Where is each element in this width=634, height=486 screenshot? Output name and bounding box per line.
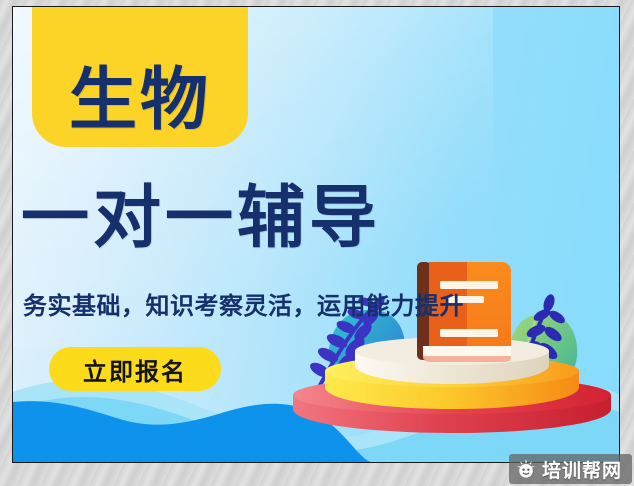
book-podium-illustration — [283, 255, 620, 437]
watermark-label: 培训帮网 — [542, 456, 622, 483]
promo-banner: 生物 一对一辅导 务实基础，知识考察灵活，运用能力提升 立即报名 — [12, 6, 620, 463]
smiley-sun-icon — [515, 458, 537, 480]
enroll-now-button[interactable]: 立即报名 — [49, 347, 221, 391]
subject-badge: 生物 — [32, 6, 248, 147]
watermark: 培训帮网 — [509, 454, 632, 484]
enroll-now-button-label: 立即报名 — [83, 352, 187, 387]
headline: 一对一辅导 — [21, 184, 491, 253]
page-backdrop: 生物 一对一辅导 务实基础，知识考察灵活，运用能力提升 立即报名 培训帮网 — [0, 0, 634, 486]
subject-badge-label: 生物 — [69, 67, 211, 135]
subtitle: 务实基础，知识考察灵活，运用能力提升 — [23, 292, 464, 321]
